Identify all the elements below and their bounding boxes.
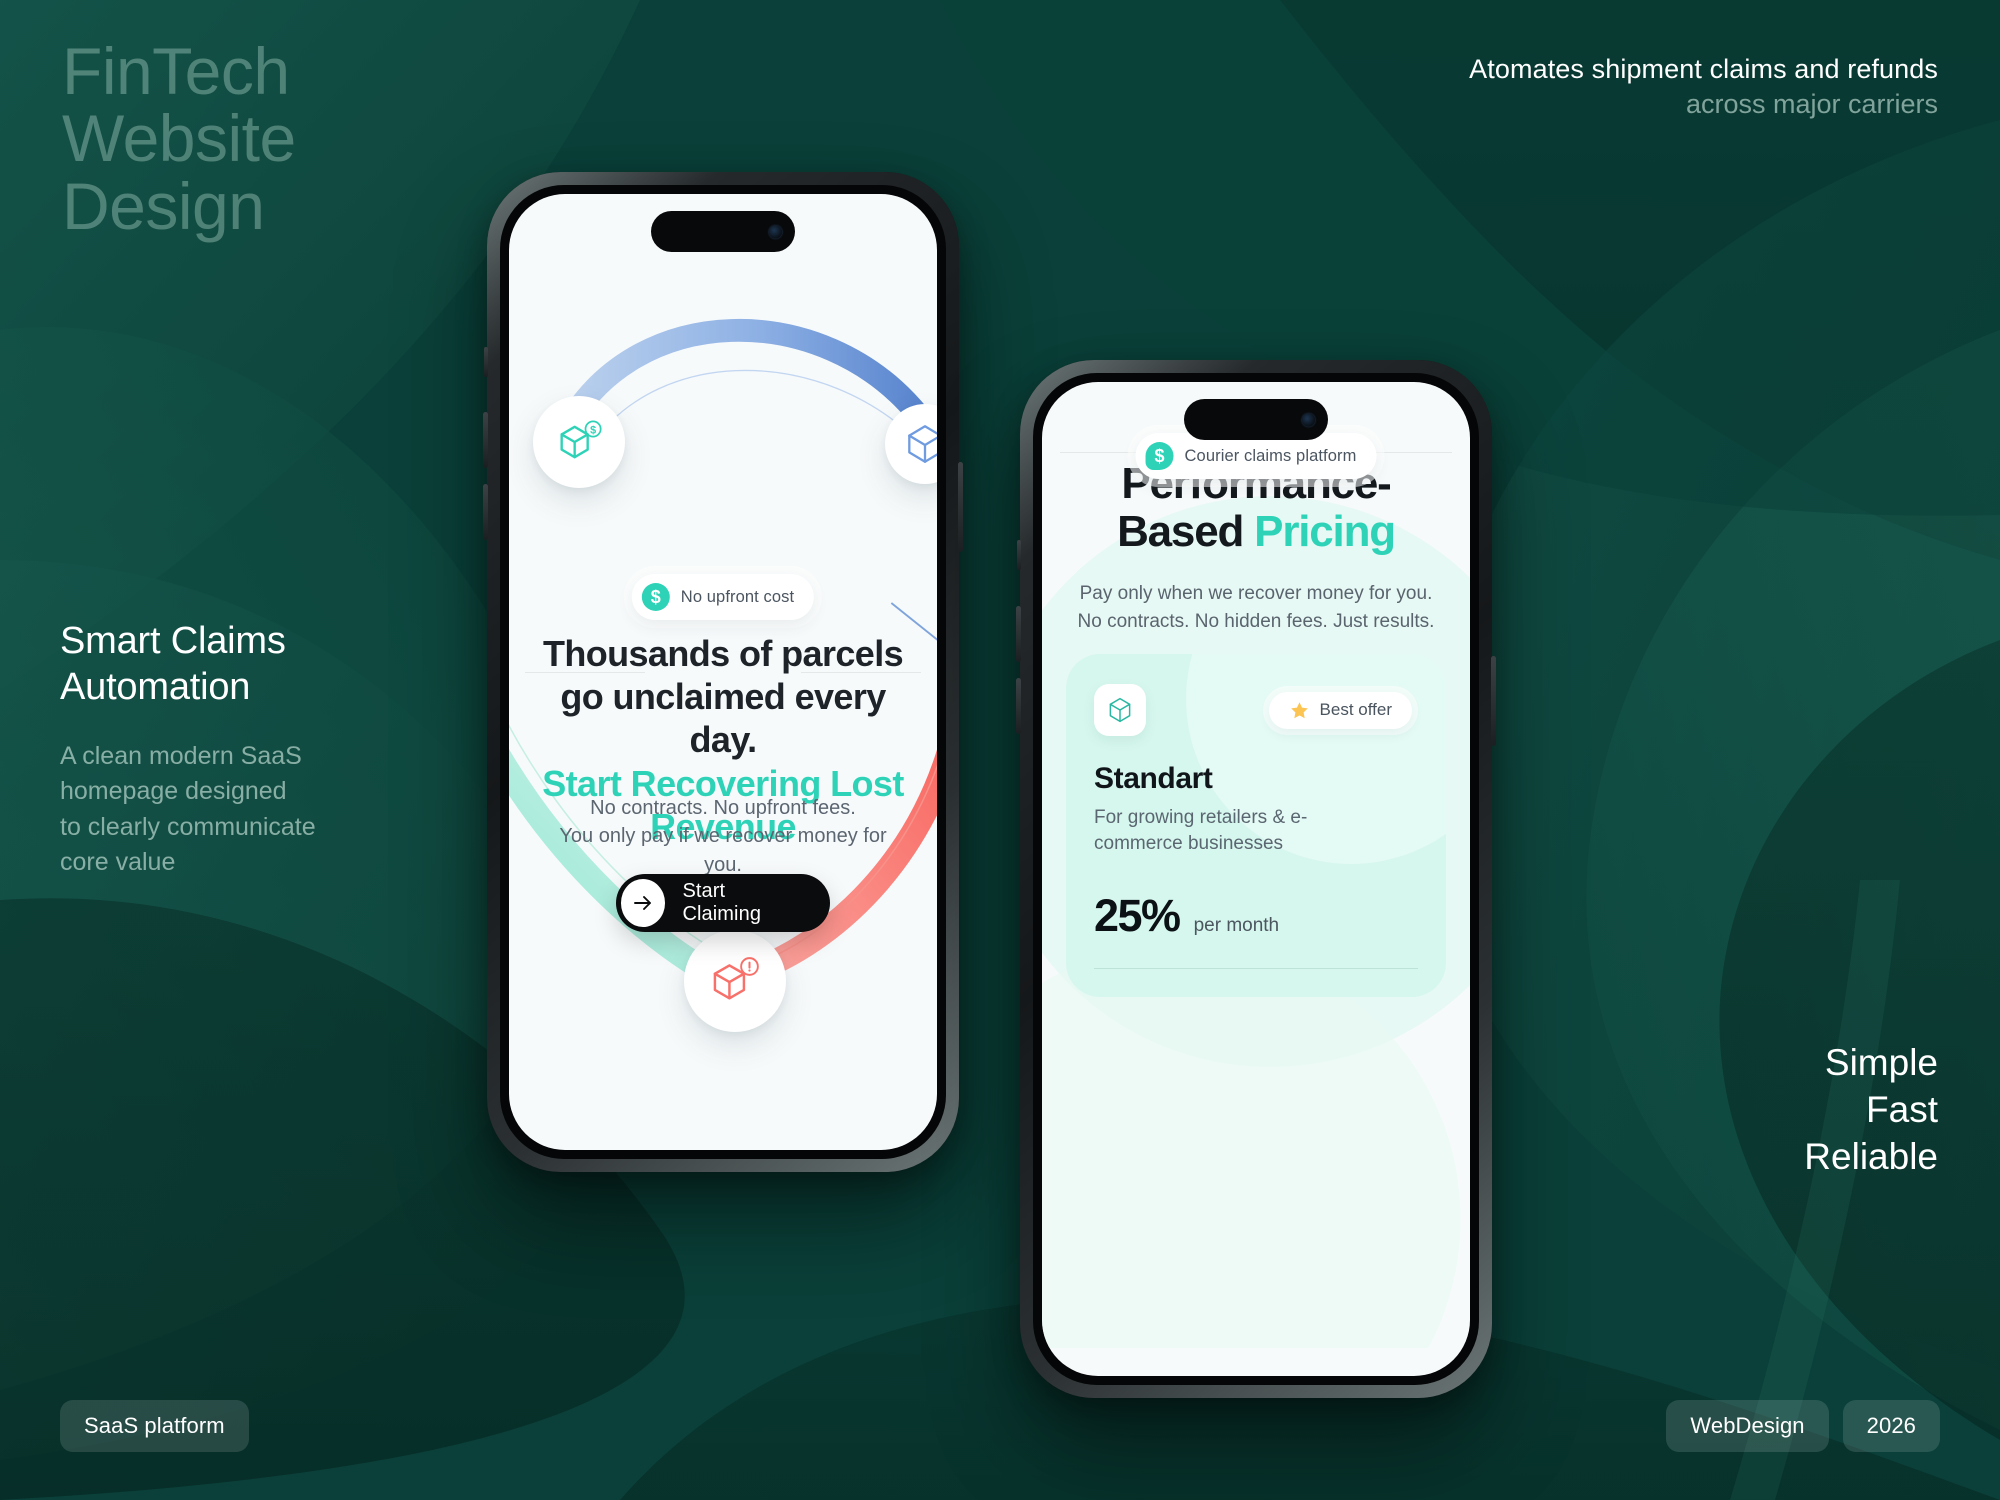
tag-year[interactable]: 2026: [1843, 1400, 1940, 1452]
phone-mockup-hero: $: [487, 172, 959, 1172]
tag-saas-platform[interactable]: SaaS platform: [60, 1400, 249, 1452]
phone1-dynamic-island: [651, 211, 795, 252]
headline-line-2: unclaimed every day.: [613, 676, 886, 760]
card-divider: [1094, 968, 1418, 969]
phone1-bezel: $: [500, 185, 946, 1159]
phone-mockup-pricing: $ Courier claims platform Performance- B…: [1020, 360, 1492, 1398]
bottom-left-tags: SaaS platform: [60, 1400, 249, 1452]
arrow-right-icon: [621, 879, 665, 927]
arrow-right-glyph: [631, 891, 655, 915]
cube-icon[interactable]: [885, 404, 937, 484]
best-offer-pill: Best offer: [1269, 692, 1412, 729]
tagline-line-2: across major carriers: [1469, 89, 1938, 120]
plan-name: Standart: [1094, 762, 1418, 796]
phone1-screen: $: [509, 194, 937, 1150]
keyword-reliable: Reliable: [1804, 1134, 1938, 1181]
phone2-mute-switch[interactable]: [1017, 540, 1021, 570]
star-icon: [1289, 700, 1310, 721]
no-upfront-cost-badge[interactable]: $ No upfront cost: [624, 566, 822, 628]
phone2-volume-up-button[interactable]: [1016, 606, 1021, 662]
phone1-power-button[interactable]: [958, 462, 963, 552]
pricing-card: Best offer Standart For growing retailer…: [1066, 654, 1446, 997]
left-heading: Smart Claims Automation: [60, 618, 480, 711]
start-claiming-button[interactable]: Start Claiming: [616, 874, 830, 932]
cube-dollar-icon[interactable]: $: [533, 396, 625, 488]
cube-alert-glyph: [706, 952, 764, 1010]
tag-webdesign[interactable]: WebDesign: [1666, 1400, 1828, 1452]
badge-pill-inner: $ No upfront cost: [632, 574, 814, 620]
badge-label: Courier claims platform: [1185, 447, 1357, 466]
phone1-mute-switch[interactable]: [484, 347, 488, 377]
left-body-text: A clean modern SaaS homepage designed to…: [60, 739, 480, 881]
headline-accent: Pricing: [1254, 507, 1395, 556]
phone2-screen: $ Courier claims platform Performance- B…: [1042, 382, 1470, 1376]
price-row: 25% per month: [1094, 890, 1418, 942]
cube-glyph: [902, 421, 937, 467]
best-offer-badge[interactable]: Best offer: [1263, 686, 1418, 735]
cta-label: Start Claiming: [682, 880, 800, 926]
phone2-bezel: $ Courier claims platform Performance- B…: [1033, 373, 1479, 1385]
pricing-headline-line-2: Based Pricing: [1064, 508, 1448, 556]
svg-text:$: $: [590, 424, 596, 436]
keyword-fast: Fast: [1804, 1087, 1938, 1134]
pricing-card-content: Best offer Standart For growing retailer…: [1094, 684, 1418, 969]
phone2-dynamic-island: [1184, 399, 1328, 440]
headline-plain: Based: [1117, 507, 1254, 556]
phone2-power-button[interactable]: [1491, 656, 1496, 746]
keyword-simple: Simple: [1804, 1040, 1938, 1087]
page-title: FinTech Website Design: [62, 38, 296, 240]
cube-dollar-glyph: $: [553, 416, 605, 468]
badge-label: No upfront cost: [681, 588, 794, 607]
tagline-line-1: Atomates shipment claims and refunds: [1469, 54, 1938, 85]
cube-glyph: [1106, 696, 1134, 724]
hero-subtext: No contracts. No upfront fees. You only …: [539, 794, 907, 879]
left-description-block: Smart Claims Automation A clean modern S…: [60, 618, 480, 881]
plan-price-period: per month: [1194, 915, 1280, 937]
phone2-volume-down-button[interactable]: [1016, 678, 1021, 734]
phone1-volume-up-button[interactable]: [483, 412, 488, 468]
pricing-card-header: Best offer: [1094, 684, 1418, 736]
plan-price: 25%: [1094, 890, 1180, 942]
bottom-right-tags: WebDesign 2026: [1666, 1400, 1940, 1452]
phone1-volume-down-button[interactable]: [483, 484, 488, 540]
pricing-subtext: Pay only when we recover money for you. …: [1068, 580, 1444, 635]
plan-description: For growing retailers & e-commerce busin…: [1094, 805, 1394, 856]
tagline: Atomates shipment claims and refunds acr…: [1469, 54, 1938, 120]
right-keywords: Simple Fast Reliable: [1804, 1040, 1938, 1181]
front-camera-icon: [1302, 413, 1315, 426]
cube-icon: [1094, 684, 1146, 736]
dollar-bubble-icon: $: [1146, 442, 1174, 470]
cube-alert-icon[interactable]: [684, 930, 786, 1032]
front-camera-icon: [769, 225, 782, 238]
dollar-coin-icon: $: [642, 583, 670, 611]
best-offer-label: Best offer: [1320, 700, 1392, 720]
